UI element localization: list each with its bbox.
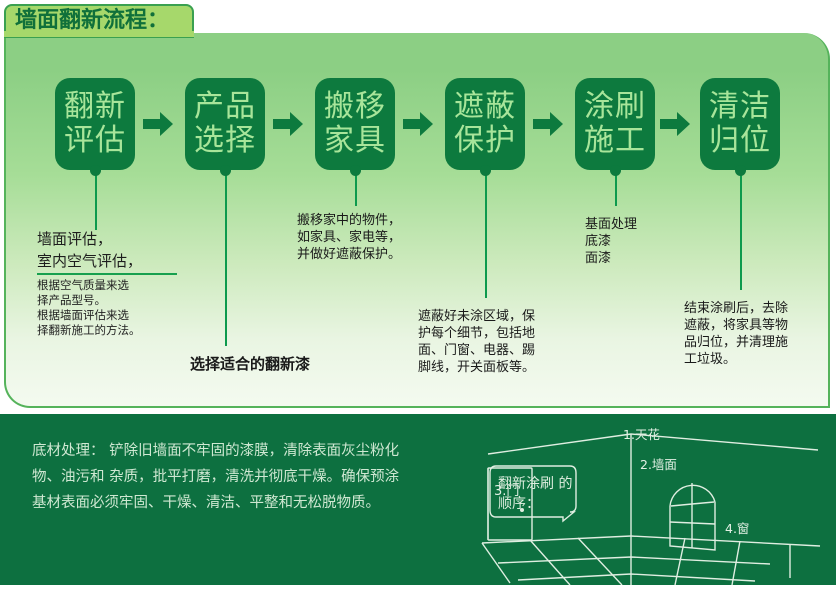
annotation-1-rule xyxy=(37,273,177,275)
flow-arrow-4 xyxy=(533,112,563,136)
connector-dot-4 xyxy=(480,165,491,176)
annotation-1: 墙面评估， 室内空气评估， 根据空气质量来选 择产品型号。 根据墙面评估来选 择… xyxy=(37,228,177,338)
infographic-root: 底材处理： 铲除旧墙面不牢固的漆膜，清除表面灰尘粉化物、油污和 杂质，批平打磨，… xyxy=(0,0,836,585)
flow-step-5-line1: 涂刷 xyxy=(584,90,646,124)
flow-step-5[interactable]: 涂刷 施工 xyxy=(575,78,655,170)
room-label-wall: 2.墙面 xyxy=(640,454,677,473)
annotation-3-text: 搬移家中的物件， 如家具、家电等， 并做好遮蔽保护。 xyxy=(297,212,427,263)
annotation-2-text: 选择适合的翻新漆 xyxy=(190,354,370,374)
room-label-ceiling: 1.天花 xyxy=(623,424,660,443)
connector-dot-5 xyxy=(610,165,621,176)
annotation-5-text: 基面处理 底漆 面漆 xyxy=(585,216,705,267)
room-diagram: 翻新涂刷 的顺序： 1.天花 2.墙面 3.门 4.窗 xyxy=(470,418,836,585)
flow-step-1-line2: 评估 xyxy=(64,124,126,158)
annotation-4-text: 遮蔽好未涂区域，保 护每个细节，包括地 面、门窗、电器、踢 脚线，开关面板等。 xyxy=(418,308,558,376)
annotation-4: 遮蔽好未涂区域，保 护每个细节，包括地 面、门窗、电器、踢 脚线，开关面板等。 xyxy=(418,308,558,376)
flow-step-3-line2: 家具 xyxy=(324,124,386,158)
flow-step-4[interactable]: 遮蔽 保护 xyxy=(445,78,525,170)
annotation-2: 选择适合的翻新漆 xyxy=(190,354,370,374)
flow-step-2[interactable]: 产品 选择 xyxy=(185,78,265,170)
flow-step-4-line2: 保护 xyxy=(454,124,516,158)
connector-dot-1 xyxy=(90,165,101,176)
flow-arrow-3 xyxy=(403,112,433,136)
annotation-5: 基面处理 底漆 面漆 xyxy=(585,216,705,267)
flow-arrow-2 xyxy=(273,112,303,136)
connector-line-1 xyxy=(95,168,97,230)
flow-step-6-line1: 清洁 xyxy=(709,90,771,124)
room-label-window: 4.窗 xyxy=(725,518,749,537)
flow-step-2-line1: 产品 xyxy=(194,90,256,124)
connector-line-4 xyxy=(485,168,487,298)
flow-step-1-line1: 翻新 xyxy=(64,90,126,124)
connector-dot-3 xyxy=(350,165,361,176)
flow-step-3[interactable]: 搬移 家具 xyxy=(315,78,395,170)
annotation-1-head: 墙面评估， 室内空气评估， xyxy=(37,228,177,272)
flow-step-6-line2: 归位 xyxy=(709,124,771,158)
room-label-door: 3.门 xyxy=(494,480,519,499)
annotation-6: 结束涂刷后，去除 遮蔽，将家具等物 品归位，并清理施 工垃圾。 xyxy=(684,300,816,368)
flow-arrow-5 xyxy=(660,112,690,136)
annotation-3: 搬移家中的物件， 如家具、家电等， 并做好遮蔽保护。 xyxy=(297,212,427,263)
connector-line-6 xyxy=(740,168,742,290)
substrate-panel: 底材处理： 铲除旧墙面不牢固的漆膜，清除表面灰尘粉化物、油污和 杂质，批平打磨，… xyxy=(0,414,836,585)
flow-step-3-line1: 搬移 xyxy=(324,90,386,124)
flow-step-1[interactable]: 翻新 评估 xyxy=(55,78,135,170)
connector-dot-6 xyxy=(735,165,746,176)
connector-line-2 xyxy=(225,168,227,346)
annotation-6-text: 结束涂刷后，去除 遮蔽，将家具等物 品归位，并清理施 工垃圾。 xyxy=(684,300,816,368)
connector-dot-2 xyxy=(220,165,231,176)
flow-step-4-line1: 遮蔽 xyxy=(454,90,516,124)
flow-arrow-1 xyxy=(143,112,173,136)
flow-step-6[interactable]: 清洁 归位 xyxy=(700,78,780,170)
flow-step-5-line2: 施工 xyxy=(584,124,646,158)
page-title: 墙面翻新流程： xyxy=(6,10,169,32)
flow-step-2-line2: 选择 xyxy=(194,124,256,158)
annotation-1-body: 根据空气质量来选 择产品型号。 根据墙面评估来选 择翻新施工的方法。 xyxy=(37,278,177,338)
tab-seam xyxy=(4,31,194,37)
substrate-paragraph: 底材处理： 铲除旧墙面不牢固的漆膜，清除表面灰尘粉化物、油污和 杂质，批平打磨，… xyxy=(32,438,407,516)
